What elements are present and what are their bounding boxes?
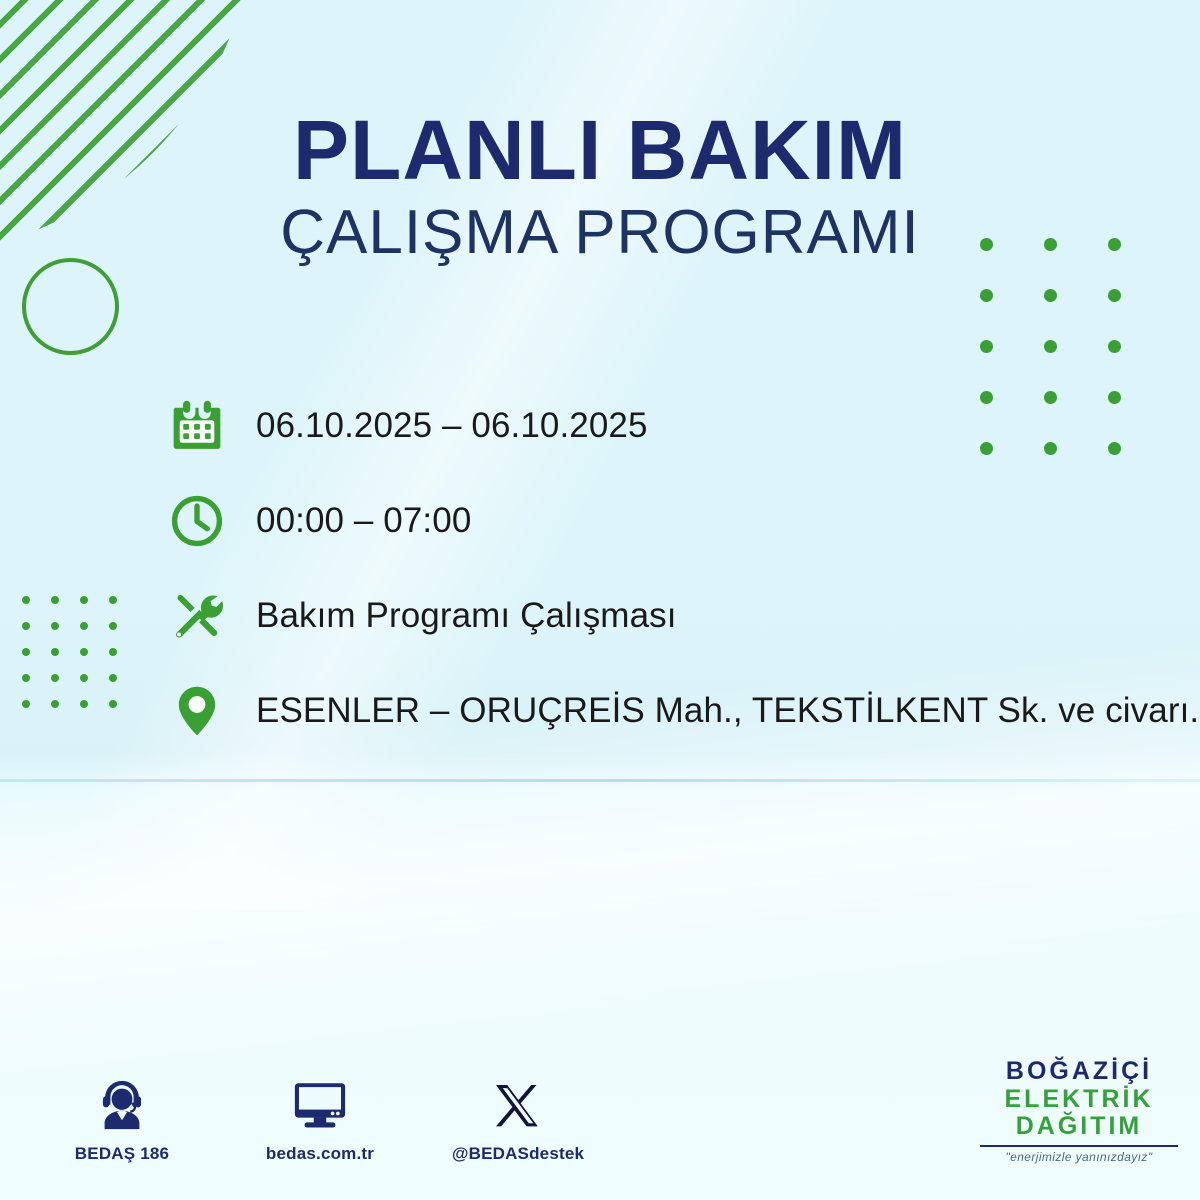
bedas-logo: BOĞAZİÇİ ELEKTRİK DAĞITIM "enerjimizle y… — [974, 1058, 1184, 1164]
contact-website[interactable]: bedas.com.tr — [250, 1072, 390, 1164]
contact-x-account[interactable]: @BEDASdestek — [448, 1072, 588, 1164]
planned-maintenance-poster: PLANLI BAKIM ÇALIŞMA PROGRAMI — [0, 0, 1200, 1200]
title-line-1: PLANLI BAKIM — [0, 108, 1200, 194]
contact-phone[interactable]: BEDAŞ 186 — [52, 1072, 192, 1164]
page-title: PLANLI BAKIM ÇALIŞMA PROGRAMI — [0, 108, 1200, 265]
footer-contacts: BEDAŞ 186 bedas.com.tr @B — [52, 1072, 588, 1164]
monitor-icon — [250, 1072, 390, 1134]
brand-tagline: "enerjimizle yanınızdayız" — [974, 1150, 1184, 1164]
detail-row-time: 00:00 – 07:00 — [166, 473, 1196, 568]
location-value: ESENLER – ORUÇREİS Mah., TEKSTİLKENT Sk.… — [256, 691, 1199, 731]
background-horizon-band — [0, 779, 1200, 782]
brand-divider — [980, 1145, 1178, 1147]
circle-outline-decoration — [22, 258, 119, 355]
brand-line-3: DAĞITIM — [974, 1113, 1184, 1141]
date-range-value: 06.10.2025 – 06.10.2025 — [256, 406, 648, 446]
dot-grid-left-decoration — [22, 596, 138, 726]
calendar-icon — [166, 398, 228, 454]
time-range-value: 00:00 – 07:00 — [256, 501, 471, 541]
location-pin-icon — [166, 683, 228, 739]
call-center-agent-icon — [52, 1072, 192, 1134]
detail-row-work-type: Bakım Programı Çalışması — [166, 568, 1196, 663]
detail-row-location: ESENLER – ORUÇREİS Mah., TEKSTİLKENT Sk.… — [166, 663, 1196, 758]
work-type-value: Bakım Programı Çalışması — [256, 596, 677, 636]
contact-x-label: @BEDASdestek — [448, 1144, 588, 1164]
brand-line-1: BOĞAZİÇİ — [974, 1058, 1184, 1086]
maintenance-details-list: 06.10.2025 – 06.10.2025 00:00 – 07:00 — [166, 378, 1196, 758]
contact-phone-label: BEDAŞ 186 — [52, 1144, 192, 1164]
clock-icon — [166, 493, 228, 549]
title-line-2: ÇALIŞMA PROGRAMI — [0, 200, 1200, 265]
detail-row-date: 06.10.2025 – 06.10.2025 — [166, 378, 1196, 473]
x-twitter-icon — [448, 1072, 588, 1134]
brand-line-2: ELEKTRİK — [974, 1086, 1184, 1114]
tools-icon — [166, 588, 228, 644]
contact-website-label: bedas.com.tr — [250, 1144, 390, 1164]
